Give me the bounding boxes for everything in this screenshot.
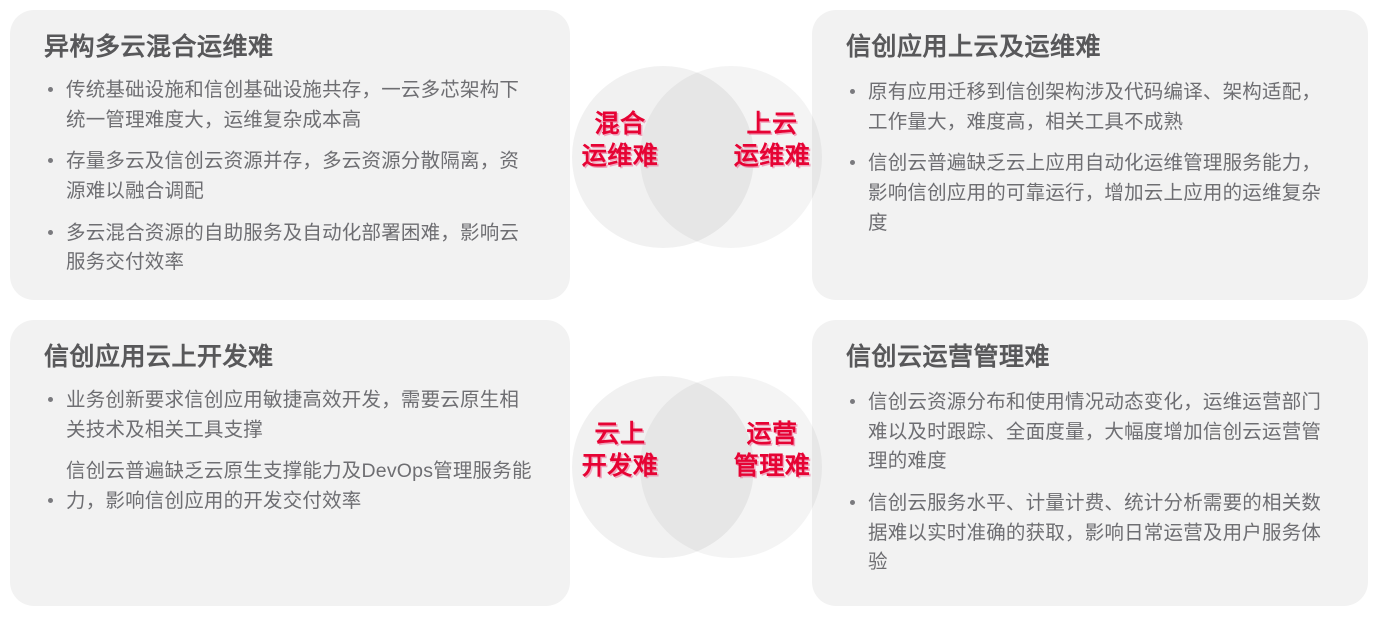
bullet-dot-icon	[48, 87, 53, 92]
bullet-dot-icon	[850, 89, 855, 94]
list-item: 传统基础设施和信创基础设施共存，一云多芯架构下统一管理难度大，运维复杂成本高	[44, 76, 536, 135]
bullet-list: 传统基础设施和信创基础设施共存，一云多芯架构下统一管理难度大，运维复杂成本高 存…	[44, 76, 536, 278]
list-item: 存量多云及信创云资源并存，多云资源分散隔离，资源难以融合调配	[44, 147, 536, 206]
bullet-dot-icon	[850, 500, 855, 505]
list-item: 信创云普遍缺乏云上应用自动化运维管理服务能力，影响信创应用的可靠运行，增加云上应…	[846, 149, 1334, 238]
bullet-text: 信创云资源分布和使用情况动态变化，运维运营部门难以及时跟踪、全面度量，大幅度增加…	[868, 391, 1321, 472]
bullet-text: 传统基础设施和信创基础设施共存，一云多芯架构下统一管理难度大，运维复杂成本高	[66, 79, 519, 131]
list-item: 业务创新要求信创应用敏捷高效开发，需要云原生相关技术及相关工具支撑	[44, 386, 536, 445]
card-cloud-operations-management: 信创云运营管理难 信创云资源分布和使用情况动态变化，运维运营部门难以及时跟踪、全…	[812, 320, 1368, 606]
list-item: 信创云服务水平、计量计费、统计分析需要的相关数据难以实时准确的获取，影响日常运营…	[846, 489, 1334, 578]
list-item: 原有应用迁移到信创架构涉及代码编译、架构适配，工作量大，难度高，相关工具不成熟	[846, 78, 1334, 137]
bullet-list: 信创云资源分布和使用情况动态变化，运维运营部门难以及时跟踪、全面度量，大幅度增加…	[846, 388, 1334, 578]
bullet-dot-icon	[48, 397, 53, 402]
venn-label-cloud-migration-ops: 上云 运维难	[712, 108, 832, 172]
bullet-text: 业务创新要求信创应用敏捷高效开发，需要云原生相关技术及相关工具支撑	[66, 389, 519, 441]
bullet-dot-icon	[850, 399, 855, 404]
card-heterogeneous-multicloud-ops: 异构多云混合运维难 传统基础设施和信创基础设施共存，一云多芯架构下统一管理难度大…	[10, 10, 570, 300]
bullet-text: 信创云服务水平、计量计费、统计分析需要的相关数据难以实时准确的获取，影响日常运营…	[868, 492, 1321, 573]
card-title: 异构多云混合运维难	[44, 32, 536, 62]
list-item: 信创云普遍缺乏云原生支撑能力及DevOps管理服务能力，影响信创应用的开发交付效…	[44, 457, 536, 516]
bullet-text: 原有应用迁移到信创架构涉及代码编译、架构适配，工作量大，难度高，相关工具不成熟	[868, 81, 1321, 133]
card-cloud-native-development: 信创应用云上开发难 业务创新要求信创应用敏捷高效开发，需要云原生相关技术及相关工…	[10, 320, 570, 606]
venn-label-line1: 云上	[560, 418, 680, 450]
bullet-text: 信创云普遍缺乏云上应用自动化运维管理服务能力，影响信创应用的可靠运行，增加云上应…	[868, 152, 1321, 233]
bullet-dot-icon	[48, 498, 53, 503]
bullet-list: 原有应用迁移到信创架构涉及代码编译、架构适配，工作量大，难度高，相关工具不成熟 …	[846, 78, 1334, 238]
challenges-board: 异构多云混合运维难 传统基础设施和信创基础设施共存，一云多芯架构下统一管理难度大…	[0, 0, 1378, 620]
card-title: 信创应用上云及运维难	[846, 32, 1334, 62]
card-title: 信创应用云上开发难	[44, 342, 536, 372]
bullet-dot-icon	[48, 230, 53, 235]
bullet-text: 信创云普遍缺乏云原生支撑能力及DevOps管理服务能力，影响信创应用的开发交付效…	[66, 460, 532, 512]
venn-label-line1: 运营	[712, 418, 832, 450]
venn-label-cloud-development: 云上 开发难	[560, 418, 680, 482]
venn-label-line2: 管理难	[712, 450, 832, 482]
venn-diagram-bottom: 云上 开发难 运营 管理难	[572, 376, 822, 558]
bullet-text: 存量多云及信创云资源并存，多云资源分散隔离，资源难以融合调配	[66, 150, 519, 202]
venn-label-line2: 运维难	[560, 140, 680, 172]
venn-label-line2: 开发难	[560, 450, 680, 482]
venn-diagram-top: 混合 运维难 上云 运维难	[572, 66, 822, 248]
venn-label-line1: 上云	[712, 108, 832, 140]
bullet-dot-icon	[850, 160, 855, 165]
venn-label-line1: 混合	[560, 108, 680, 140]
bullet-dot-icon	[48, 158, 53, 163]
card-app-migration-ops: 信创应用上云及运维难 原有应用迁移到信创架构涉及代码编译、架构适配，工作量大，难…	[812, 10, 1368, 300]
venn-label-operations-management: 运营 管理难	[712, 418, 832, 482]
list-item: 多云混合资源的自助服务及自动化部署困难，影响云服务交付效率	[44, 219, 536, 278]
venn-label-hybrid-ops: 混合 运维难	[560, 108, 680, 172]
bullet-text: 多云混合资源的自助服务及自动化部署困难，影响云服务交付效率	[66, 222, 519, 274]
list-item: 信创云资源分布和使用情况动态变化，运维运营部门难以及时跟踪、全面度量，大幅度增加…	[846, 388, 1334, 477]
card-title: 信创云运营管理难	[846, 342, 1334, 372]
bullet-list: 业务创新要求信创应用敏捷高效开发，需要云原生相关技术及相关工具支撑 信创云普遍缺…	[44, 386, 536, 517]
venn-label-line2: 运维难	[712, 140, 832, 172]
